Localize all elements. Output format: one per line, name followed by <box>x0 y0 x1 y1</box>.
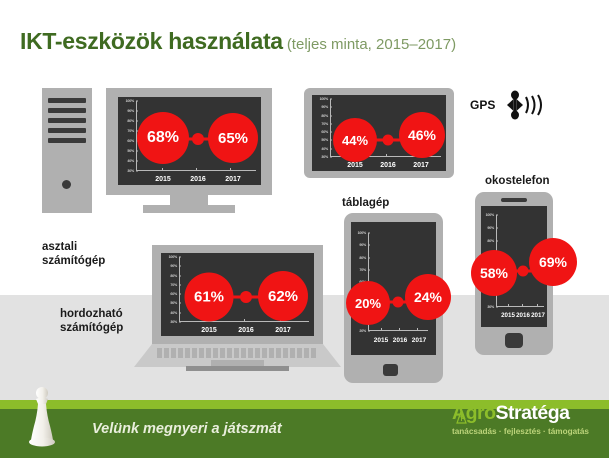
y-tick-label: 90% <box>127 109 134 113</box>
y-tick-label: 60% <box>321 130 328 134</box>
y-tick-label: 100% <box>320 97 328 101</box>
x-tick-label: 2015 <box>201 327 217 334</box>
data-bubble-2015: 58% <box>471 250 517 296</box>
phone-home-button-icon <box>505 333 523 348</box>
gps-satellite-icon <box>501 90 547 120</box>
data-bubble-2015: 44% <box>333 118 377 162</box>
data-bubble-2017: 65% <box>208 113 258 163</box>
y-axis: 100% 90% 80% 70% 60% 50% 40% 30% <box>179 257 180 322</box>
chart-tablet: 100% 90% 80% 70% 60% 40% 30% 20% 2015 20… <box>356 229 428 347</box>
title-main: IKT-eszközök használata <box>20 28 283 54</box>
data-point-2016 <box>383 135 394 146</box>
footer-tagline: Velünk megnyeri a játszmát <box>92 421 282 437</box>
y-tick-label: 50% <box>321 138 328 142</box>
data-bubble-2015: 61% <box>185 273 234 322</box>
y-tick-label: 90% <box>321 105 328 109</box>
y-tick-label: 70% <box>127 129 134 133</box>
x-axis <box>136 170 256 171</box>
y-tick-label: 70% <box>170 283 177 287</box>
y-tick-label: 40% <box>170 311 177 315</box>
logo-wordmark: AgroStratéga <box>452 404 589 424</box>
x-tick-label: 2017 <box>531 312 545 319</box>
y-tick-label: 80% <box>321 114 328 118</box>
y-tick-label: 30% <box>170 320 177 324</box>
y-tick-label: 90% <box>359 243 366 247</box>
agrostratega-logo[interactable]: AgroStratéga tanácsadás · fejlesztés · t… <box>452 404 589 436</box>
x-tick-label: 2015 <box>347 162 363 169</box>
page-title: IKT-eszközök használata(teljes minta, 20… <box>20 28 456 55</box>
x-tick-label: 2016 <box>238 327 254 334</box>
x-axis <box>496 306 544 307</box>
data-bubble-2017: 69% <box>529 238 577 286</box>
logo-stratega-text: Stratéga <box>496 402 570 424</box>
data-bubble-2015: 20% <box>346 281 390 325</box>
data-bubble-2017: 62% <box>258 271 308 321</box>
monitor-base <box>143 205 235 213</box>
y-tick-label: 80% <box>170 274 177 278</box>
device-label-tablet: táblagép <box>342 196 389 210</box>
y-tick-label: 40% <box>127 159 134 163</box>
y-tick-label: 30% <box>487 305 494 309</box>
data-bubble-2015: 68% <box>137 112 189 164</box>
y-tick-label: 50% <box>170 301 177 305</box>
y-tick-label: 90% <box>487 226 494 230</box>
x-axis <box>179 321 309 322</box>
y-tick-label: 50% <box>127 149 134 153</box>
y-tick-label: 80% <box>359 256 366 260</box>
chart-desktop: 100% 90% 80% 70% 60% 50% 40% 30% 2015 20… <box>118 97 261 185</box>
chart-tv: 100% 90% 80% 70% 60% 50% 40% 30% 2015 20… <box>312 95 446 171</box>
x-tick-label: 2017 <box>225 176 241 183</box>
y-tick-label: 60% <box>127 139 134 143</box>
desktop-tower-icon <box>42 88 92 213</box>
logo-subtitle: tanácsadás · fejlesztés · támogatás <box>452 427 589 436</box>
y-tick-label: 30% <box>127 169 134 173</box>
y-tick-label: 70% <box>321 122 328 126</box>
data-point-2016 <box>518 266 529 277</box>
y-tick-label: 20% <box>359 329 366 333</box>
y-tick-label: 100% <box>169 255 177 259</box>
phone-speaker-icon <box>501 198 527 202</box>
y-tick-label: 70% <box>359 268 366 272</box>
gps-label: GPS <box>470 98 495 112</box>
laptop-foot <box>186 366 289 371</box>
x-tick-label: 2015 <box>501 312 515 319</box>
x-tick-label: 2015 <box>155 176 171 183</box>
y-tick-label: 80% <box>487 239 494 243</box>
data-bubble-2017: 24% <box>405 274 451 320</box>
x-tick-label: 2016 <box>516 312 530 319</box>
x-tick-label: 2017 <box>412 337 426 344</box>
x-tick-label: 2015 <box>374 337 388 344</box>
x-tick-label: 2016 <box>393 337 407 344</box>
y-axis: 100% 90% 80% 70% 60% 50% 40% 30% <box>330 99 331 157</box>
x-tick-label: 2016 <box>190 176 206 183</box>
power-button-icon <box>62 180 71 189</box>
x-tick-label: 2017 <box>413 162 429 169</box>
y-tick-label: 60% <box>170 292 177 296</box>
y-tick-label: 100% <box>486 213 494 217</box>
chart-phone: 100% 90% 80% 70% 60% 50% 40% 30% 2015 20… <box>484 211 544 321</box>
device-label-desktop: asztali számítógép <box>42 240 105 269</box>
y-tick-label: 90% <box>170 264 177 268</box>
laptop-keyboard-icon <box>157 348 318 358</box>
data-point-2016 <box>240 291 252 303</box>
x-axis <box>368 330 428 331</box>
y-tick-label: 30% <box>321 155 328 159</box>
infographic-canvas: IKT-eszközök használata(teljes minta, 20… <box>0 0 609 458</box>
x-tick-label: 2017 <box>275 327 291 334</box>
data-bubble-2017: 46% <box>399 112 445 158</box>
logo-sprout-icon <box>456 409 467 424</box>
chart-laptop: 100% 90% 80% 70% 60% 50% 40% 30% 2015 20… <box>161 253 314 336</box>
title-subtitle: (teljes minta, 2015–2017) <box>287 36 456 53</box>
y-tick-label: 80% <box>127 119 134 123</box>
x-tick-label: 2016 <box>380 162 396 169</box>
gps-group: GPS <box>470 90 547 120</box>
y-tick-label: 100% <box>358 231 366 235</box>
device-label-phone: okostelefon <box>485 174 550 188</box>
y-tick-label: 40% <box>321 147 328 151</box>
data-point-2016 <box>393 297 404 308</box>
data-point-2016 <box>192 133 204 145</box>
tablet-home-button-icon <box>383 364 398 376</box>
device-label-laptop: hordozható számítógép <box>60 307 123 336</box>
chess-pawn-icon <box>22 386 62 450</box>
y-tick-label: 100% <box>126 99 134 103</box>
